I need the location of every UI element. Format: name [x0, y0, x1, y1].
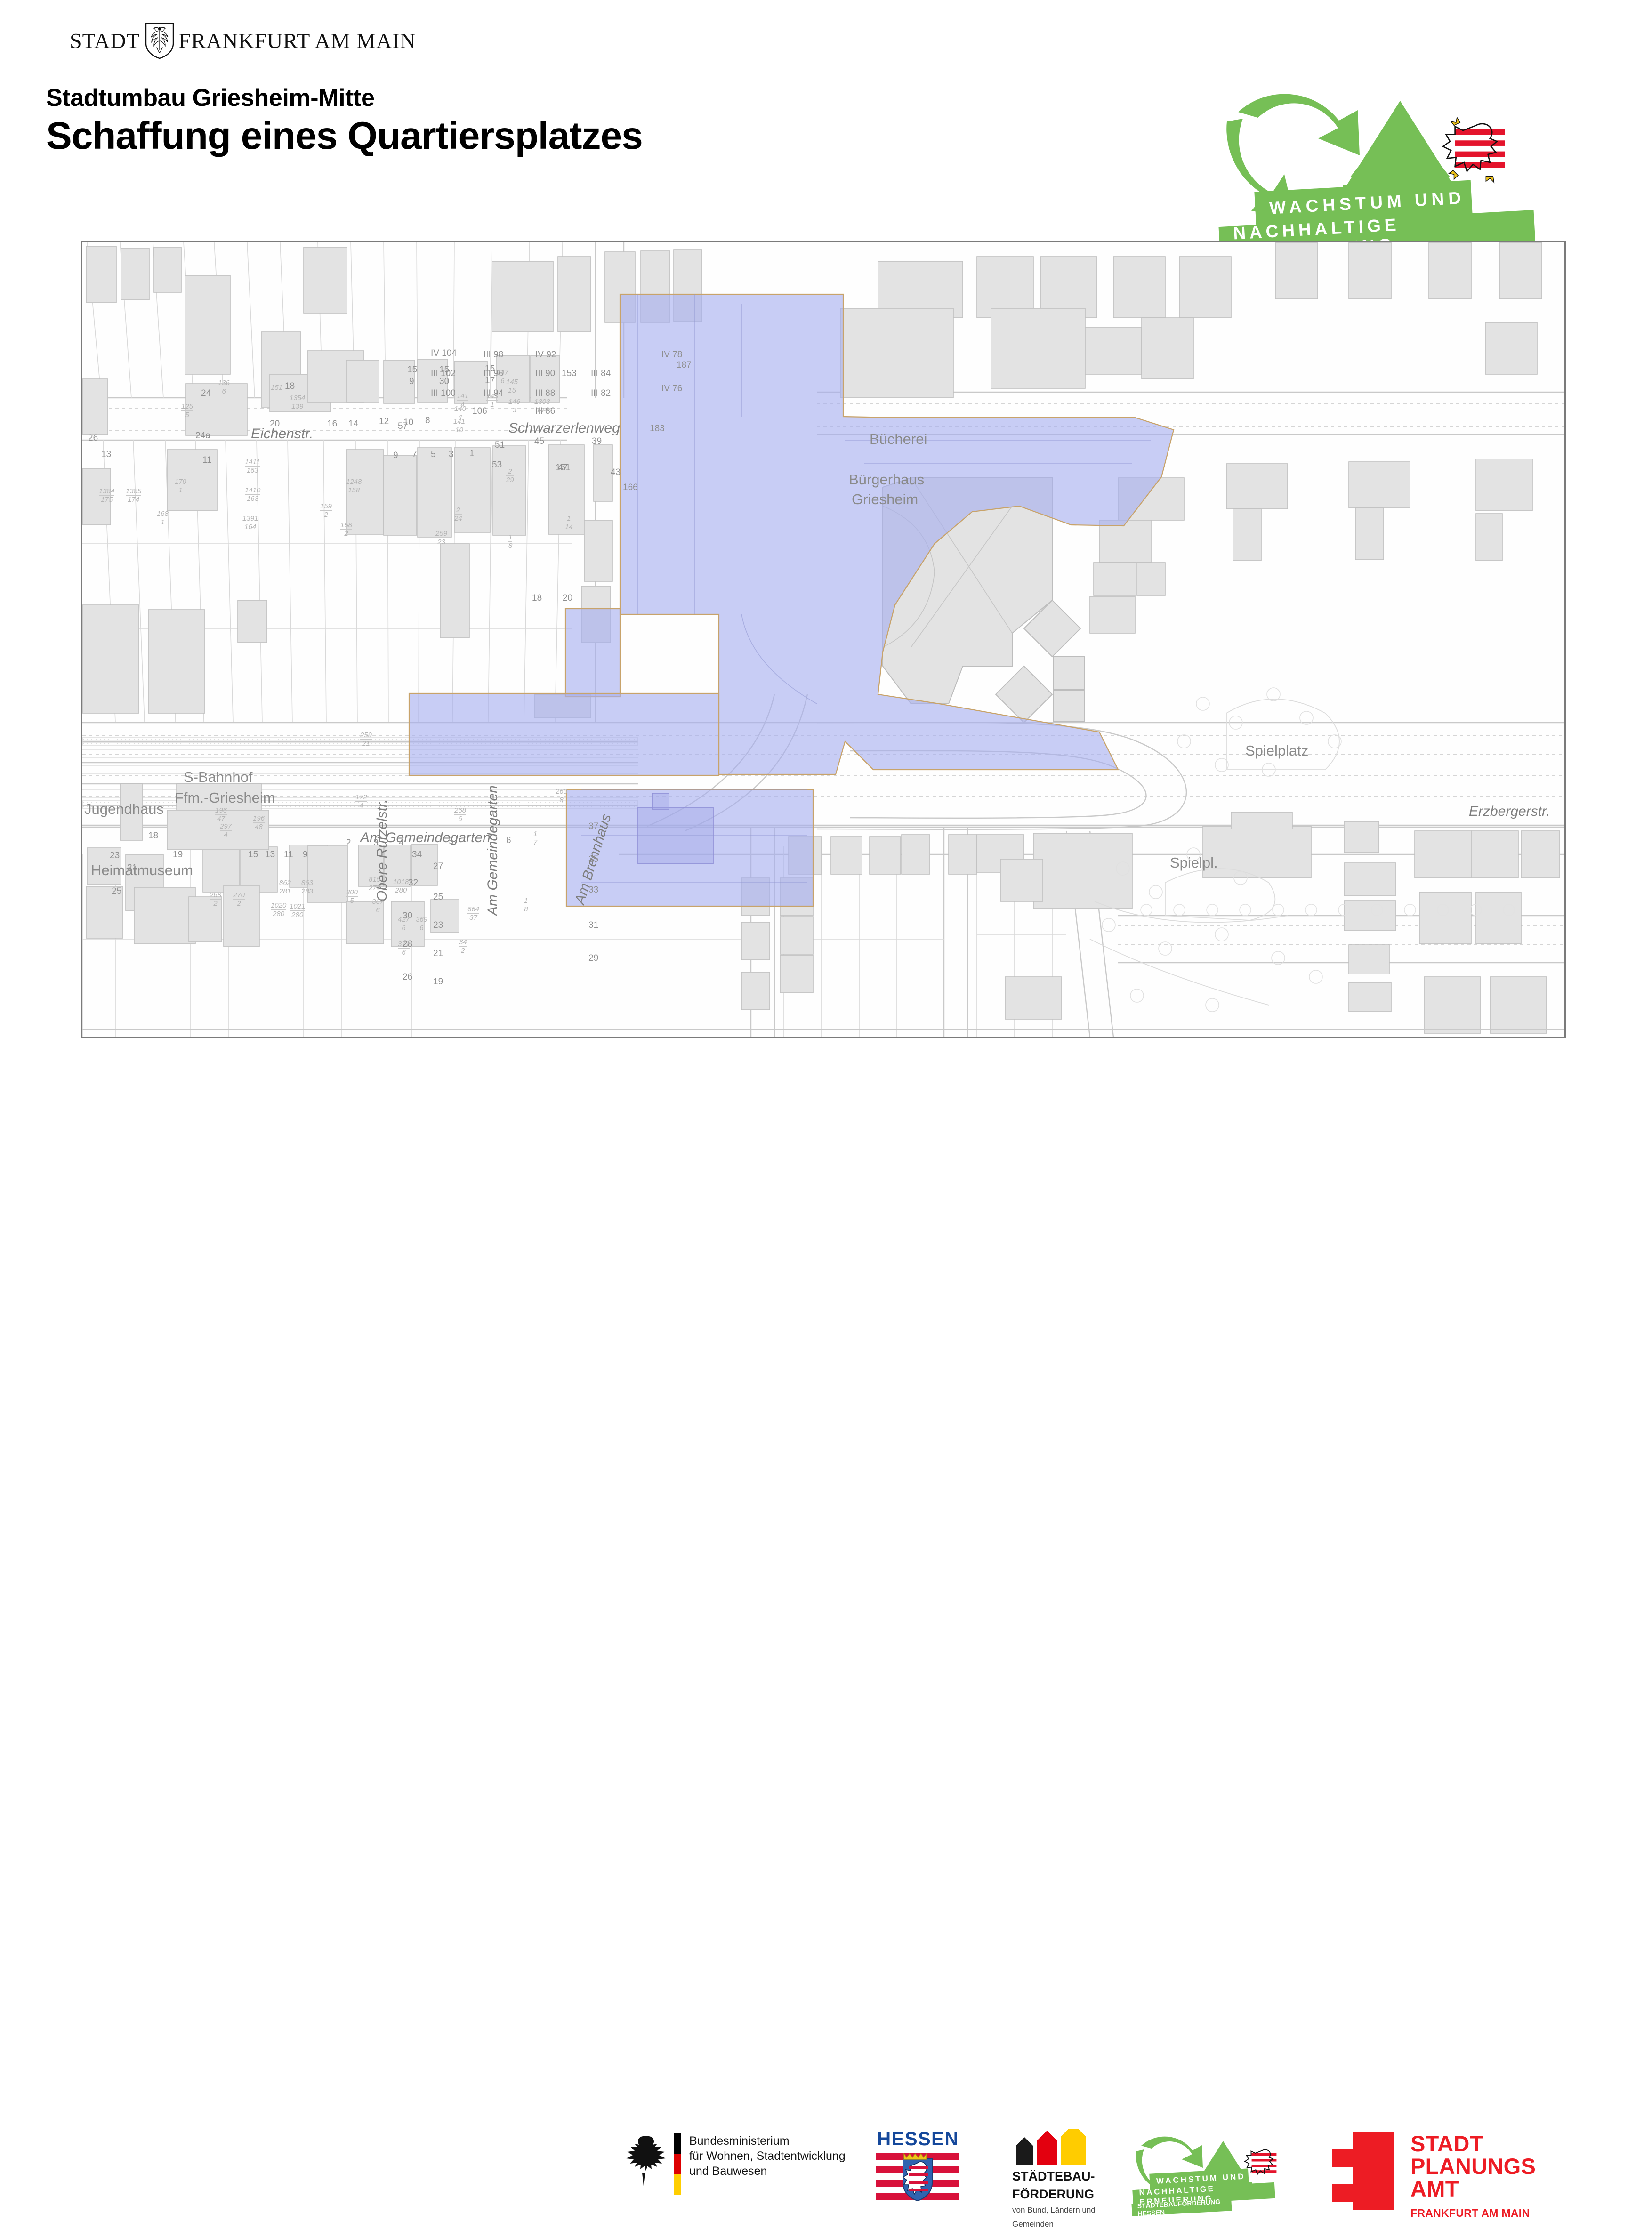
house-number: 57 — [398, 421, 408, 432]
city-logo-text-right: FRANKFURT AM MAIN — [179, 28, 416, 53]
parcel-number: 1366 — [218, 379, 230, 395]
house-number: 23 — [110, 851, 120, 861]
house-number: 21 — [433, 949, 443, 959]
parcel-number: 1724 — [355, 793, 367, 810]
parcel-number: 1303144 — [534, 398, 550, 414]
stadtplanungsamt-logo: STADT PLANUNGS AMT FRANKFURT AM MAIN — [1332, 2132, 1536, 2220]
parcel-number: 25921 — [360, 731, 372, 748]
house-number: 15 — [407, 365, 417, 375]
house-number: 13 — [101, 450, 111, 460]
house-number: III 98 — [484, 350, 503, 360]
parcel-number: 1410163 — [245, 486, 260, 503]
parcel-number: 1020280 — [271, 901, 286, 918]
parcel-number: 1021280 — [290, 902, 305, 919]
house-number: 153 — [562, 369, 577, 379]
parcel-number: 342 — [459, 938, 467, 955]
house-number: 37 — [588, 821, 598, 832]
street-label: Eichenstr. — [251, 426, 313, 442]
house-number: 106 — [472, 406, 487, 417]
parcel-number: 2608 — [556, 788, 567, 804]
parcel-number: 1582 — [340, 521, 352, 538]
parcel-number: 3696 — [416, 916, 427, 932]
place-label-s-bahnhof: S-Bahnhof — [184, 769, 253, 786]
city-logo-text-left: STADT — [70, 28, 140, 53]
parcel-number: 19647 — [215, 806, 227, 823]
parcel-number: 3005 — [346, 888, 358, 905]
house-number: 34 — [412, 850, 422, 860]
place-label-spielpl: Spielpl. — [1170, 854, 1218, 871]
house-number: 183 — [650, 424, 665, 434]
house-number: IV 92 — [535, 350, 556, 360]
parcel-number: 14110 — [453, 418, 465, 434]
bmwsb-text: Bundesministerium für Wohnen, Stadtentwi… — [689, 2133, 846, 2179]
house-number: 3 — [373, 838, 379, 848]
house-number: 19 — [433, 977, 443, 987]
house-number: 9 — [303, 850, 308, 860]
parcel-number: 224 — [454, 506, 462, 523]
parcel-number: 17 — [533, 830, 537, 846]
parcel-number: 3716 — [398, 940, 410, 957]
parcel-number: 863283 — [301, 879, 313, 895]
house-number: 5 — [449, 837, 454, 847]
city-of-frankfurt-logo: STADT FRANKFURT AM MAIN — [70, 23, 416, 58]
house-number: 19 — [173, 850, 183, 860]
parcel-number: 3676 — [372, 898, 384, 914]
parcel-number: 1255 — [181, 402, 193, 419]
house-number: 24 — [201, 388, 211, 399]
place-label-heimatmuseum: Heimatmuseum — [91, 862, 193, 879]
house-number: 187 — [677, 360, 692, 370]
parcel-number: 151 — [271, 384, 282, 392]
bmwsb-line-1: Bundesministerium — [689, 2133, 846, 2149]
house-number: 31 — [588, 920, 598, 931]
spa-line-3: AMT — [1410, 2178, 1536, 2200]
house-number: 14 — [348, 419, 358, 429]
parcel-number: 1354139 — [290, 394, 305, 410]
house-number: 2 — [346, 838, 351, 848]
parcel-number: 1391164 — [242, 515, 258, 531]
house-number: 26 — [88, 433, 98, 443]
house-number: 26 — [403, 972, 412, 982]
cadastral-map[interactable]: Eichenstr. Schwarzerlenweg Erzbergerstr.… — [81, 241, 1566, 1038]
house-number: 25 — [112, 886, 121, 897]
parcel-number: 1248158 — [346, 478, 362, 494]
house-number: 13 — [265, 850, 275, 860]
bmwsb-logo: Bundesministerium für Wohnen, Stadtentwi… — [621, 2133, 846, 2195]
hessen-flag-icon — [876, 2153, 959, 2200]
house-number: 23 — [433, 920, 443, 931]
parcel-number: 1681 — [157, 510, 169, 526]
place-label-buecherei: Bücherei — [870, 431, 927, 448]
staedtebau-line-1: STÄDTEBAU- — [1012, 2169, 1097, 2183]
house-number: 18 — [148, 831, 158, 841]
house-number: 7 — [412, 450, 417, 460]
parcel-number: 1385174 — [126, 487, 141, 504]
project-subtitle: Stadtumbau Griesheim-Mitte — [46, 84, 374, 112]
parcel-number: 862281 — [279, 879, 291, 895]
house-number: 53 — [492, 460, 502, 470]
staedtebau-sub-1: von Bund, Ländern und — [1012, 2205, 1097, 2215]
place-label-buergerhaus-2: Griesheim — [852, 491, 918, 508]
federal-eagle-icon — [621, 2133, 666, 2192]
house-number: 1 — [469, 449, 475, 459]
parcel-number: 1476 — [497, 369, 508, 385]
house-number: 27 — [433, 861, 443, 872]
place-label-spielplatz: Spielplatz — [1245, 742, 1308, 759]
place-label-jugendhaus: Jugendhaus — [84, 801, 164, 818]
house-number: III 90 — [535, 369, 555, 379]
parcel-number: 2686 — [454, 806, 466, 823]
bmwsb-line-3: und Bauwesen — [689, 2164, 846, 2179]
house-number: 24a — [195, 431, 210, 441]
spa-line-1: STADT — [1410, 2132, 1536, 2155]
page-title: Schaffung eines Quartiersplatzes — [46, 114, 643, 158]
house-number: 43 — [611, 467, 621, 478]
german-flag-bar — [674, 2133, 681, 2195]
parcel-number: 25923 — [435, 530, 447, 546]
house-number: IV 104 — [431, 348, 457, 359]
parcel-number: 4276 — [398, 916, 410, 932]
hessen-wordmark: HESSEN — [876, 2129, 960, 2150]
parcel-number: 1592 — [320, 502, 332, 519]
parcel-number: 1431 — [486, 392, 498, 409]
frankfurt-eagle-crest-icon — [145, 23, 174, 58]
house-number: 25 — [433, 892, 443, 902]
house-number: 3 — [449, 450, 454, 460]
house-number: 16 — [327, 419, 337, 429]
house-number: 18 — [285, 381, 295, 392]
place-label-s-bahnhof-2: Ffm.-Griesheim — [175, 789, 275, 806]
house-number: 15 — [248, 850, 258, 860]
house-number: 29 — [588, 953, 598, 964]
house-number: 166 — [623, 483, 638, 493]
house-number: 45 — [534, 436, 544, 447]
parcel-number: 66437 — [467, 905, 479, 922]
house-number: 51 — [495, 440, 505, 451]
parcel-number: 229 — [506, 467, 514, 484]
house-number: III 102 — [431, 369, 456, 379]
house-number: IV 76 — [661, 384, 682, 394]
stadtplanungsamt-text: STADT PLANUNGS AMT FRANKFURT AM MAIN — [1410, 2132, 1536, 2220]
house-number: 9 — [393, 451, 398, 461]
footer-logo-bar: Bundesministerium für Wohnen, Stadtentwi… — [0, 1059, 1652, 1167]
house-number: 33 — [588, 885, 598, 895]
house-number: 21 — [127, 863, 137, 873]
house-number: 32 — [408, 878, 418, 888]
staedtebaufoerderung-logo: STÄDTEBAU- FÖRDERUNG von Bund, Ländern u… — [1012, 2129, 1097, 2229]
house-number: 11 — [202, 455, 212, 466]
house-number: 35 — [588, 854, 598, 865]
parcel-number: 1384175 — [99, 487, 114, 504]
parcel-number: 2682 — [210, 891, 221, 908]
staedtebau-sub-2: Gemeinden — [1012, 2219, 1097, 2229]
hessen-logo: HESSEN — [876, 2129, 960, 2200]
parcel-number: 815277 — [369, 876, 380, 892]
parcel-number: 19648 — [253, 814, 265, 831]
house-number: 9 — [409, 377, 414, 387]
stadtplanungsamt-mark-icon — [1332, 2132, 1394, 2210]
house-number: 11 — [284, 850, 293, 860]
house-number: 20 — [270, 419, 280, 429]
three-houses-icon — [1012, 2129, 1097, 2165]
staedtebau-line-2: FÖRDERUNG — [1012, 2187, 1097, 2201]
house-number: III 100 — [431, 388, 456, 399]
parcel-number: 2974 — [220, 822, 232, 839]
spa-line-2: PLANUNGS — [1410, 2155, 1536, 2178]
street-label: Erzbergerstr. — [1469, 804, 1550, 820]
wachstum-logo-footer: WACHSTUM UND NACHHALTIGE ERNEUERUNG STÄD… — [1135, 2132, 1295, 2222]
street-label: Schwarzerlenweg — [508, 420, 620, 436]
house-number: IV 78 — [661, 350, 682, 360]
parcel-number: 2702 — [233, 891, 245, 908]
bmwsb-line-2: für Wohnen, Stadtentwicklung — [689, 2149, 846, 2164]
spa-subline: FRANKFURT AM MAIN — [1410, 2207, 1536, 2220]
house-number: 161 — [556, 463, 571, 473]
street-label: Am Gemeindegarten — [485, 785, 501, 916]
parcel-number: 114 — [565, 515, 573, 531]
house-number: 20 — [563, 593, 572, 604]
house-number: 39 — [592, 436, 602, 447]
house-number: III 84 — [591, 369, 611, 379]
parcel-number: 18 — [524, 897, 528, 913]
parcel-number: 1411163 — [245, 458, 260, 475]
house-number: 12 — [379, 417, 389, 427]
house-number: 4 — [399, 838, 404, 848]
house-number: 18 — [532, 593, 542, 604]
parcel-number: 18 — [508, 533, 512, 550]
house-number: 8 — [425, 416, 430, 426]
house-number: 5 — [431, 450, 436, 460]
house-number: 6 — [506, 836, 511, 846]
house-number: III 82 — [591, 388, 611, 399]
place-label-buergerhaus: Bürgerhaus — [849, 471, 924, 488]
house-number: III 88 — [535, 388, 555, 399]
parcel-number: 1018280 — [393, 878, 409, 894]
parcel-number: 1463 — [508, 398, 520, 414]
parcel-number: 1701 — [175, 478, 186, 494]
